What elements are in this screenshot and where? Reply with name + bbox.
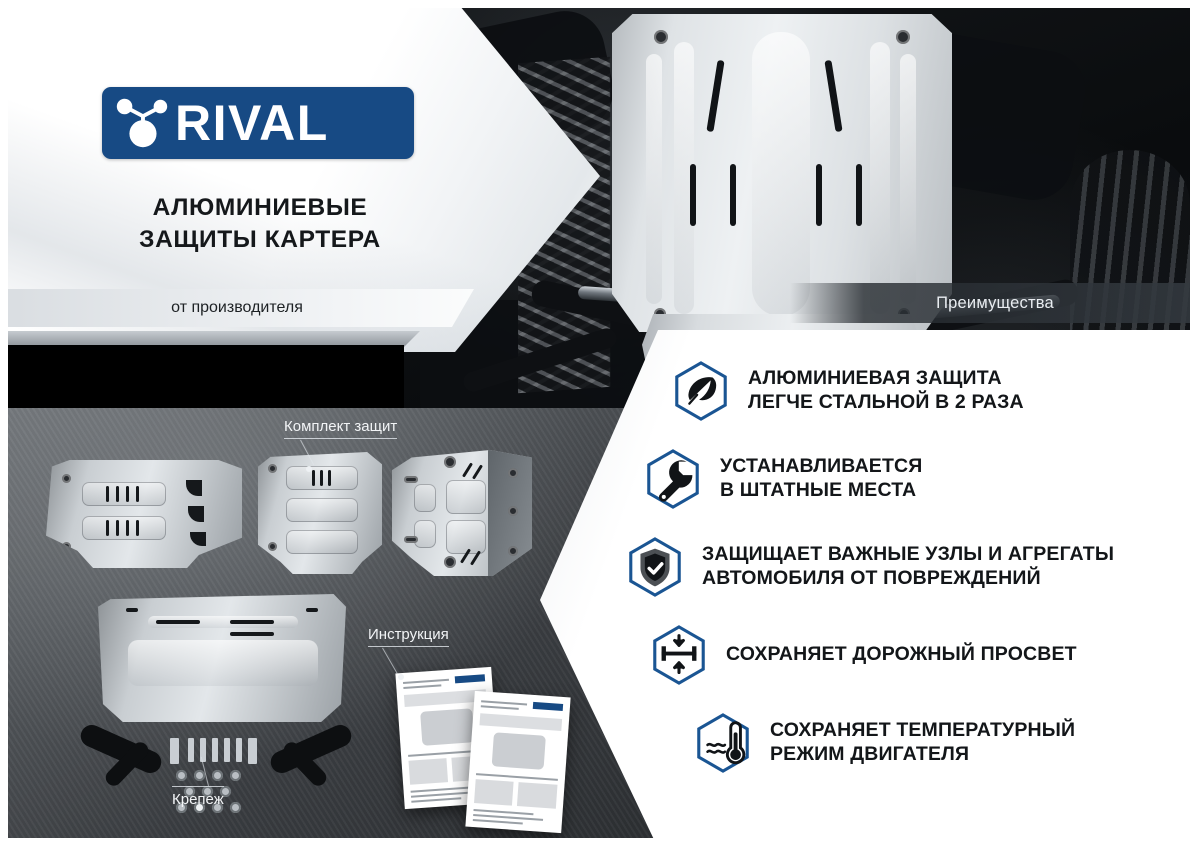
- label-kit: Комплект защит: [284, 418, 397, 439]
- skid-plate-item: [392, 450, 532, 576]
- label-hardware-text: Крепеж: [172, 791, 224, 808]
- wrench-icon: [642, 448, 704, 510]
- feature-line1: СОХРАНЯЕТ ДОРОЖНЫЙ ПРОСВЕТ: [726, 643, 1077, 667]
- feature-line1: УСТАНАВЛИВАЕТСЯ: [720, 455, 922, 479]
- feature-line2: В ШТАТНЫЕ МЕСТА: [720, 479, 922, 503]
- advantages-band: Преимущества: [790, 283, 1200, 323]
- features-panel: АЛЮМИНИЕВАЯ ЗАЩИТА ЛЕГЧЕ СТАЛЬНОЙ В 2 РА…: [540, 330, 1200, 848]
- shield-check-icon: [624, 536, 686, 598]
- feature-line2: ЛЕГЧЕ СТАЛЬНОЙ В 2 РАЗА: [748, 391, 1024, 415]
- instruction-sheet: [465, 691, 570, 833]
- feature-line2: РЕЖИМ ДВИГАТЕЛЯ: [770, 743, 1075, 767]
- feature-line2: АВТОМОБИЛЯ ОТ ПОВРЕЖДЕНИЙ: [702, 567, 1114, 591]
- feature-line1: СОХРАНЯЕТ ТЕМПЕРАТУРНЫЙ: [770, 719, 1075, 743]
- feature-text: ЗАЩИЩАЕТ ВАЖНЫЕ УЗЛЫ И АГРЕГАТЫ АВТОМОБИ…: [702, 543, 1114, 591]
- thermometer-icon: [692, 712, 754, 774]
- feature-item: АЛЮМИНИЕВАЯ ЗАЩИТА ЛЕГЧЕ СТАЛЬНОЙ В 2 РА…: [670, 360, 1188, 422]
- label-hardware: Крепеж: [172, 786, 224, 808]
- feature-text: УСТАНАВЛИВАЕТСЯ В ШТАТНЫЕ МЕСТА: [720, 455, 922, 503]
- feature-text: СОХРАНЯЕТ ДОРОЖНЫЙ ПРОСВЕТ: [726, 643, 1077, 667]
- brand-name: RIVAL: [175, 98, 329, 148]
- skid-plate-main: [98, 594, 346, 722]
- feature-line1: АЛЮМИНИЕВАЯ ЗАЩИТА: [748, 367, 1024, 391]
- page-title: АЛЮМИНИЕВЫЕ ЗАЩИТЫ КАРТЕРА: [0, 192, 520, 257]
- poster-canvas: Преимущества RIVAL АЛЮМИНИЕВЫЕ ЗАЩИТЫ КА…: [0, 0, 1200, 848]
- ground-clearance-icon: [648, 624, 710, 686]
- divider-black: [0, 345, 404, 408]
- feature-text: АЛЮМИНИЕВАЯ ЗАЩИТА ЛЕГЧЕ СТАЛЬНОЙ В 2 РА…: [748, 367, 1024, 415]
- feature-text: СОХРАНЯЕТ ТЕМПЕРАТУРНЫЙ РЕЖИМ ДВИГАТЕЛЯ: [770, 719, 1075, 767]
- leader-dot: [398, 674, 404, 680]
- leader-dot: [306, 466, 312, 472]
- advantages-label: Преимущества: [936, 294, 1054, 313]
- feature-item: УСТАНАВЛИВАЕТСЯ В ШТАТНЫЕ МЕСТА: [642, 448, 1188, 510]
- feature-item: СОХРАНЯЕТ ДОРОЖНЫЙ ПРОСВЕТ: [648, 624, 1188, 686]
- feather-icon: [670, 360, 732, 422]
- label-instruction: Инструкция: [368, 626, 449, 647]
- label-instruction-text: Инструкция: [368, 626, 449, 643]
- label-kit-text: Комплект защит: [284, 418, 397, 435]
- brand-logo: RIVAL: [102, 87, 414, 159]
- feature-item: ЗАЩИЩАЕТ ВАЖНЫЕ УЗЛЫ И АГРЕГАТЫ АВТОМОБИ…: [624, 536, 1188, 598]
- page-title-line2: ЗАЩИТЫ КАРТЕРА: [0, 224, 520, 256]
- subtitle-text: от производителя: [171, 299, 303, 317]
- feature-line1: ЗАЩИЩАЕТ ВАЖНЫЕ УЗЛЫ И АГРЕГАТЫ: [702, 543, 1114, 567]
- feature-item: СОХРАНЯЕТ ТЕМПЕРАТУРНЫЙ РЕЖИМ ДВИГАТЕЛЯ: [692, 712, 1188, 774]
- molecule-icon: [111, 92, 173, 154]
- subtitle-band: от производителя: [0, 289, 474, 327]
- skid-plate-item: [258, 452, 382, 574]
- page-title-line1: АЛЮМИНИЕВЫЕ: [0, 192, 520, 224]
